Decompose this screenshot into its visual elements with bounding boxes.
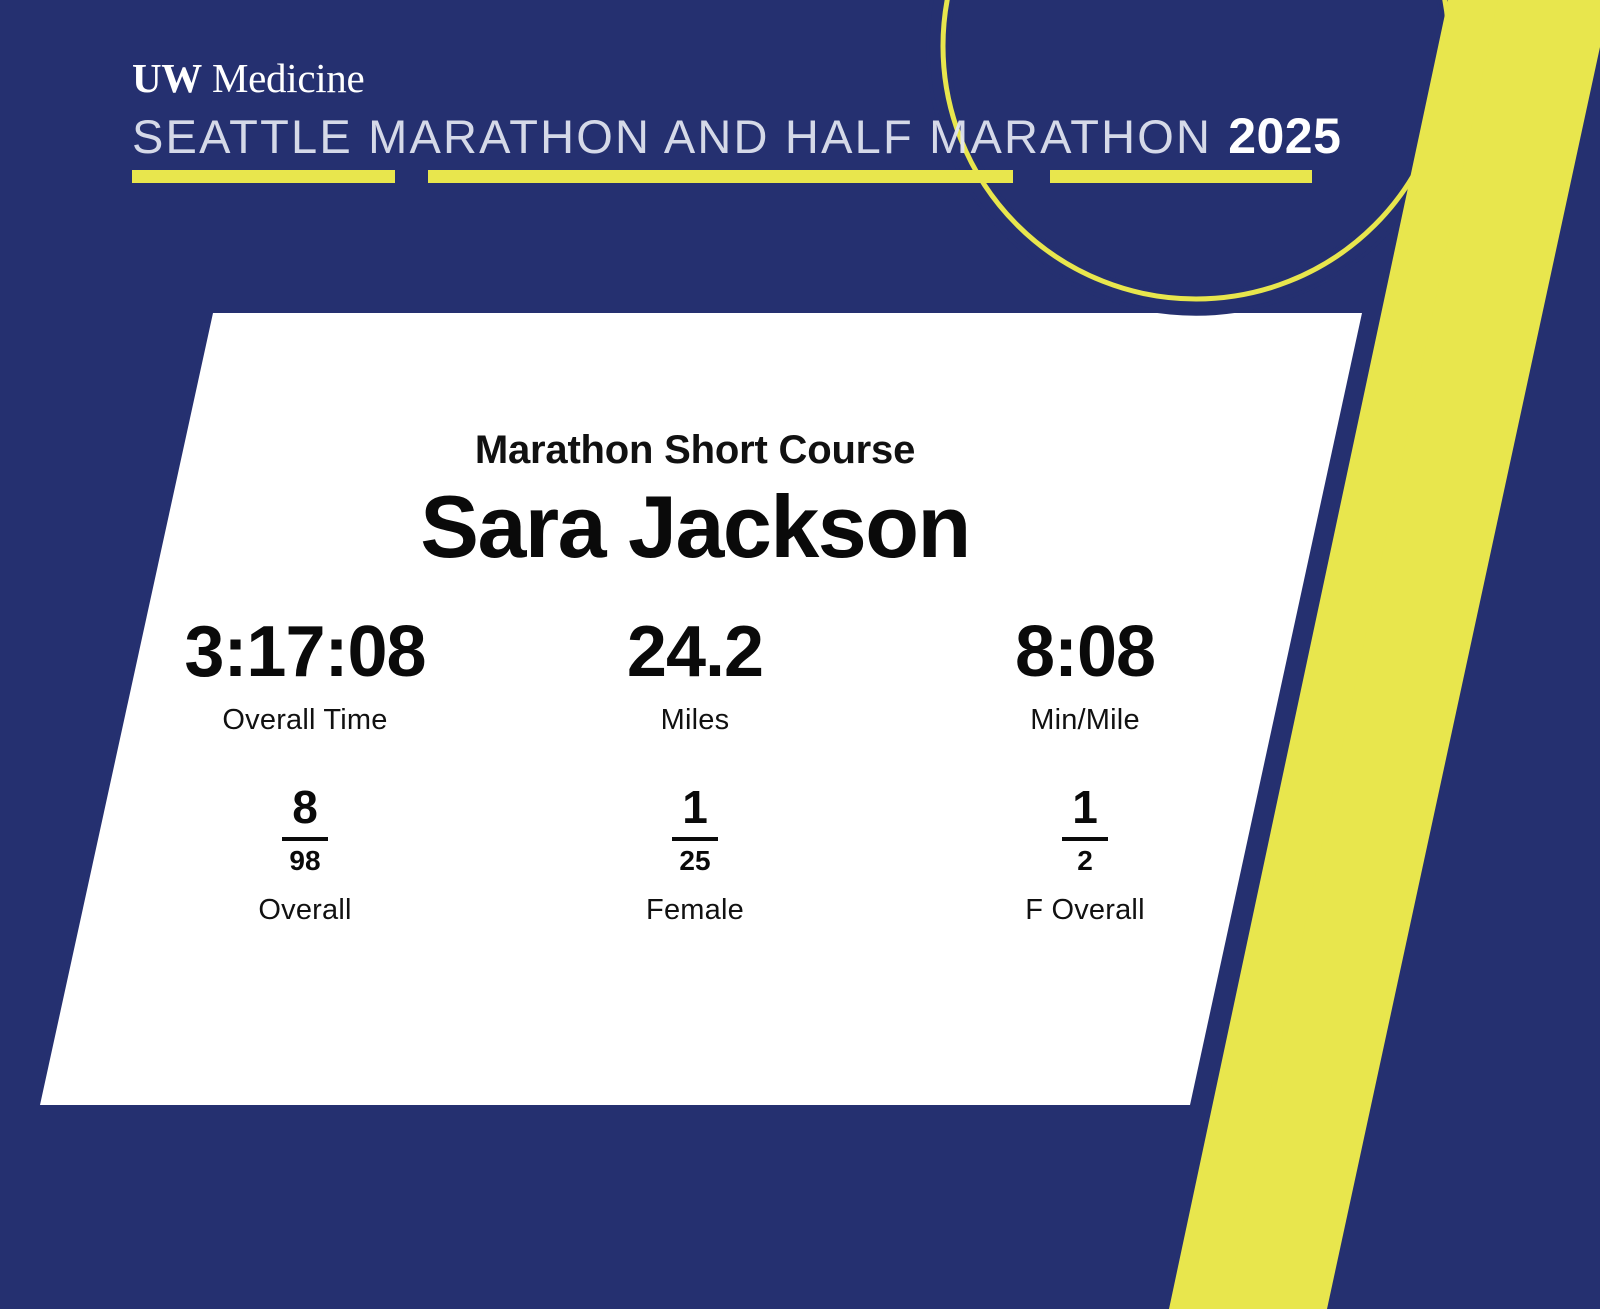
rank-female: 1 25 Female xyxy=(500,783,890,927)
rank-label: Overall xyxy=(110,894,500,927)
rank-label: F Overall xyxy=(890,894,1280,927)
stat-value: 3:17:08 xyxy=(110,616,500,688)
uw-logo-uw: UW xyxy=(132,55,202,101)
stat-min-per-mile: 8:08 Min/Mile xyxy=(890,616,1280,737)
rank-place: 1 xyxy=(1056,783,1114,831)
result-card-content: Marathon Short Course Sara Jackson 3:17:… xyxy=(0,313,1390,1105)
stat-label: Min/Mile xyxy=(890,704,1280,737)
stat-miles: 24.2 Miles xyxy=(500,616,890,737)
header-titles: UW Medicine SEATTLE MARATHON AND HALF MA… xyxy=(132,58,1341,161)
rule-segment-2 xyxy=(428,170,1013,183)
stat-overall-time: 3:17:08 Overall Time xyxy=(110,616,500,737)
fraction-bar xyxy=(1062,837,1108,841)
stat-value: 8:08 xyxy=(890,616,1280,688)
rank-fraction: 1 25 xyxy=(666,783,724,876)
rank-label: Female xyxy=(500,894,890,927)
fraction-bar xyxy=(282,837,328,841)
stat-label: Overall Time xyxy=(110,704,500,737)
race-result-poster: UW Medicine SEATTLE MARATHON AND HALF MA… xyxy=(0,0,1600,1309)
rank-field-size: 25 xyxy=(666,846,724,875)
fraction-bar xyxy=(672,837,718,841)
uw-medicine-logo: UW Medicine xyxy=(132,58,1341,99)
rank-field-size: 2 xyxy=(1056,846,1114,875)
rule-segment-1 xyxy=(132,170,395,183)
race-title-row: SEATTLE MARATHON AND HALF MARATHON 2025 xyxy=(132,111,1341,161)
course-name: Marathon Short Course xyxy=(0,428,1390,473)
runner-name: Sara Jackson xyxy=(0,481,1390,573)
rank-f-overall: 1 2 F Overall xyxy=(890,783,1280,927)
header-rule-bars xyxy=(132,170,1312,183)
rule-segment-3 xyxy=(1050,170,1312,183)
uw-logo-medicine: Medicine xyxy=(212,55,364,101)
race-title: SEATTLE MARATHON AND HALF MARATHON xyxy=(132,113,1212,160)
ranking-stats-row: 8 98 Overall 1 25 Female 1 2 xyxy=(110,783,1280,927)
rank-fraction: 1 2 xyxy=(1056,783,1114,876)
rank-overall: 8 98 Overall xyxy=(110,783,500,927)
stat-value: 24.2 xyxy=(500,616,890,688)
rank-place: 1 xyxy=(666,783,724,831)
stat-label: Miles xyxy=(500,704,890,737)
primary-stats-row: 3:17:08 Overall Time 24.2 Miles 8:08 Min… xyxy=(110,616,1280,737)
rank-field-size: 98 xyxy=(276,846,334,875)
rank-place: 8 xyxy=(276,783,334,831)
rank-fraction: 8 98 xyxy=(276,783,334,876)
race-year: 2025 xyxy=(1228,111,1341,161)
